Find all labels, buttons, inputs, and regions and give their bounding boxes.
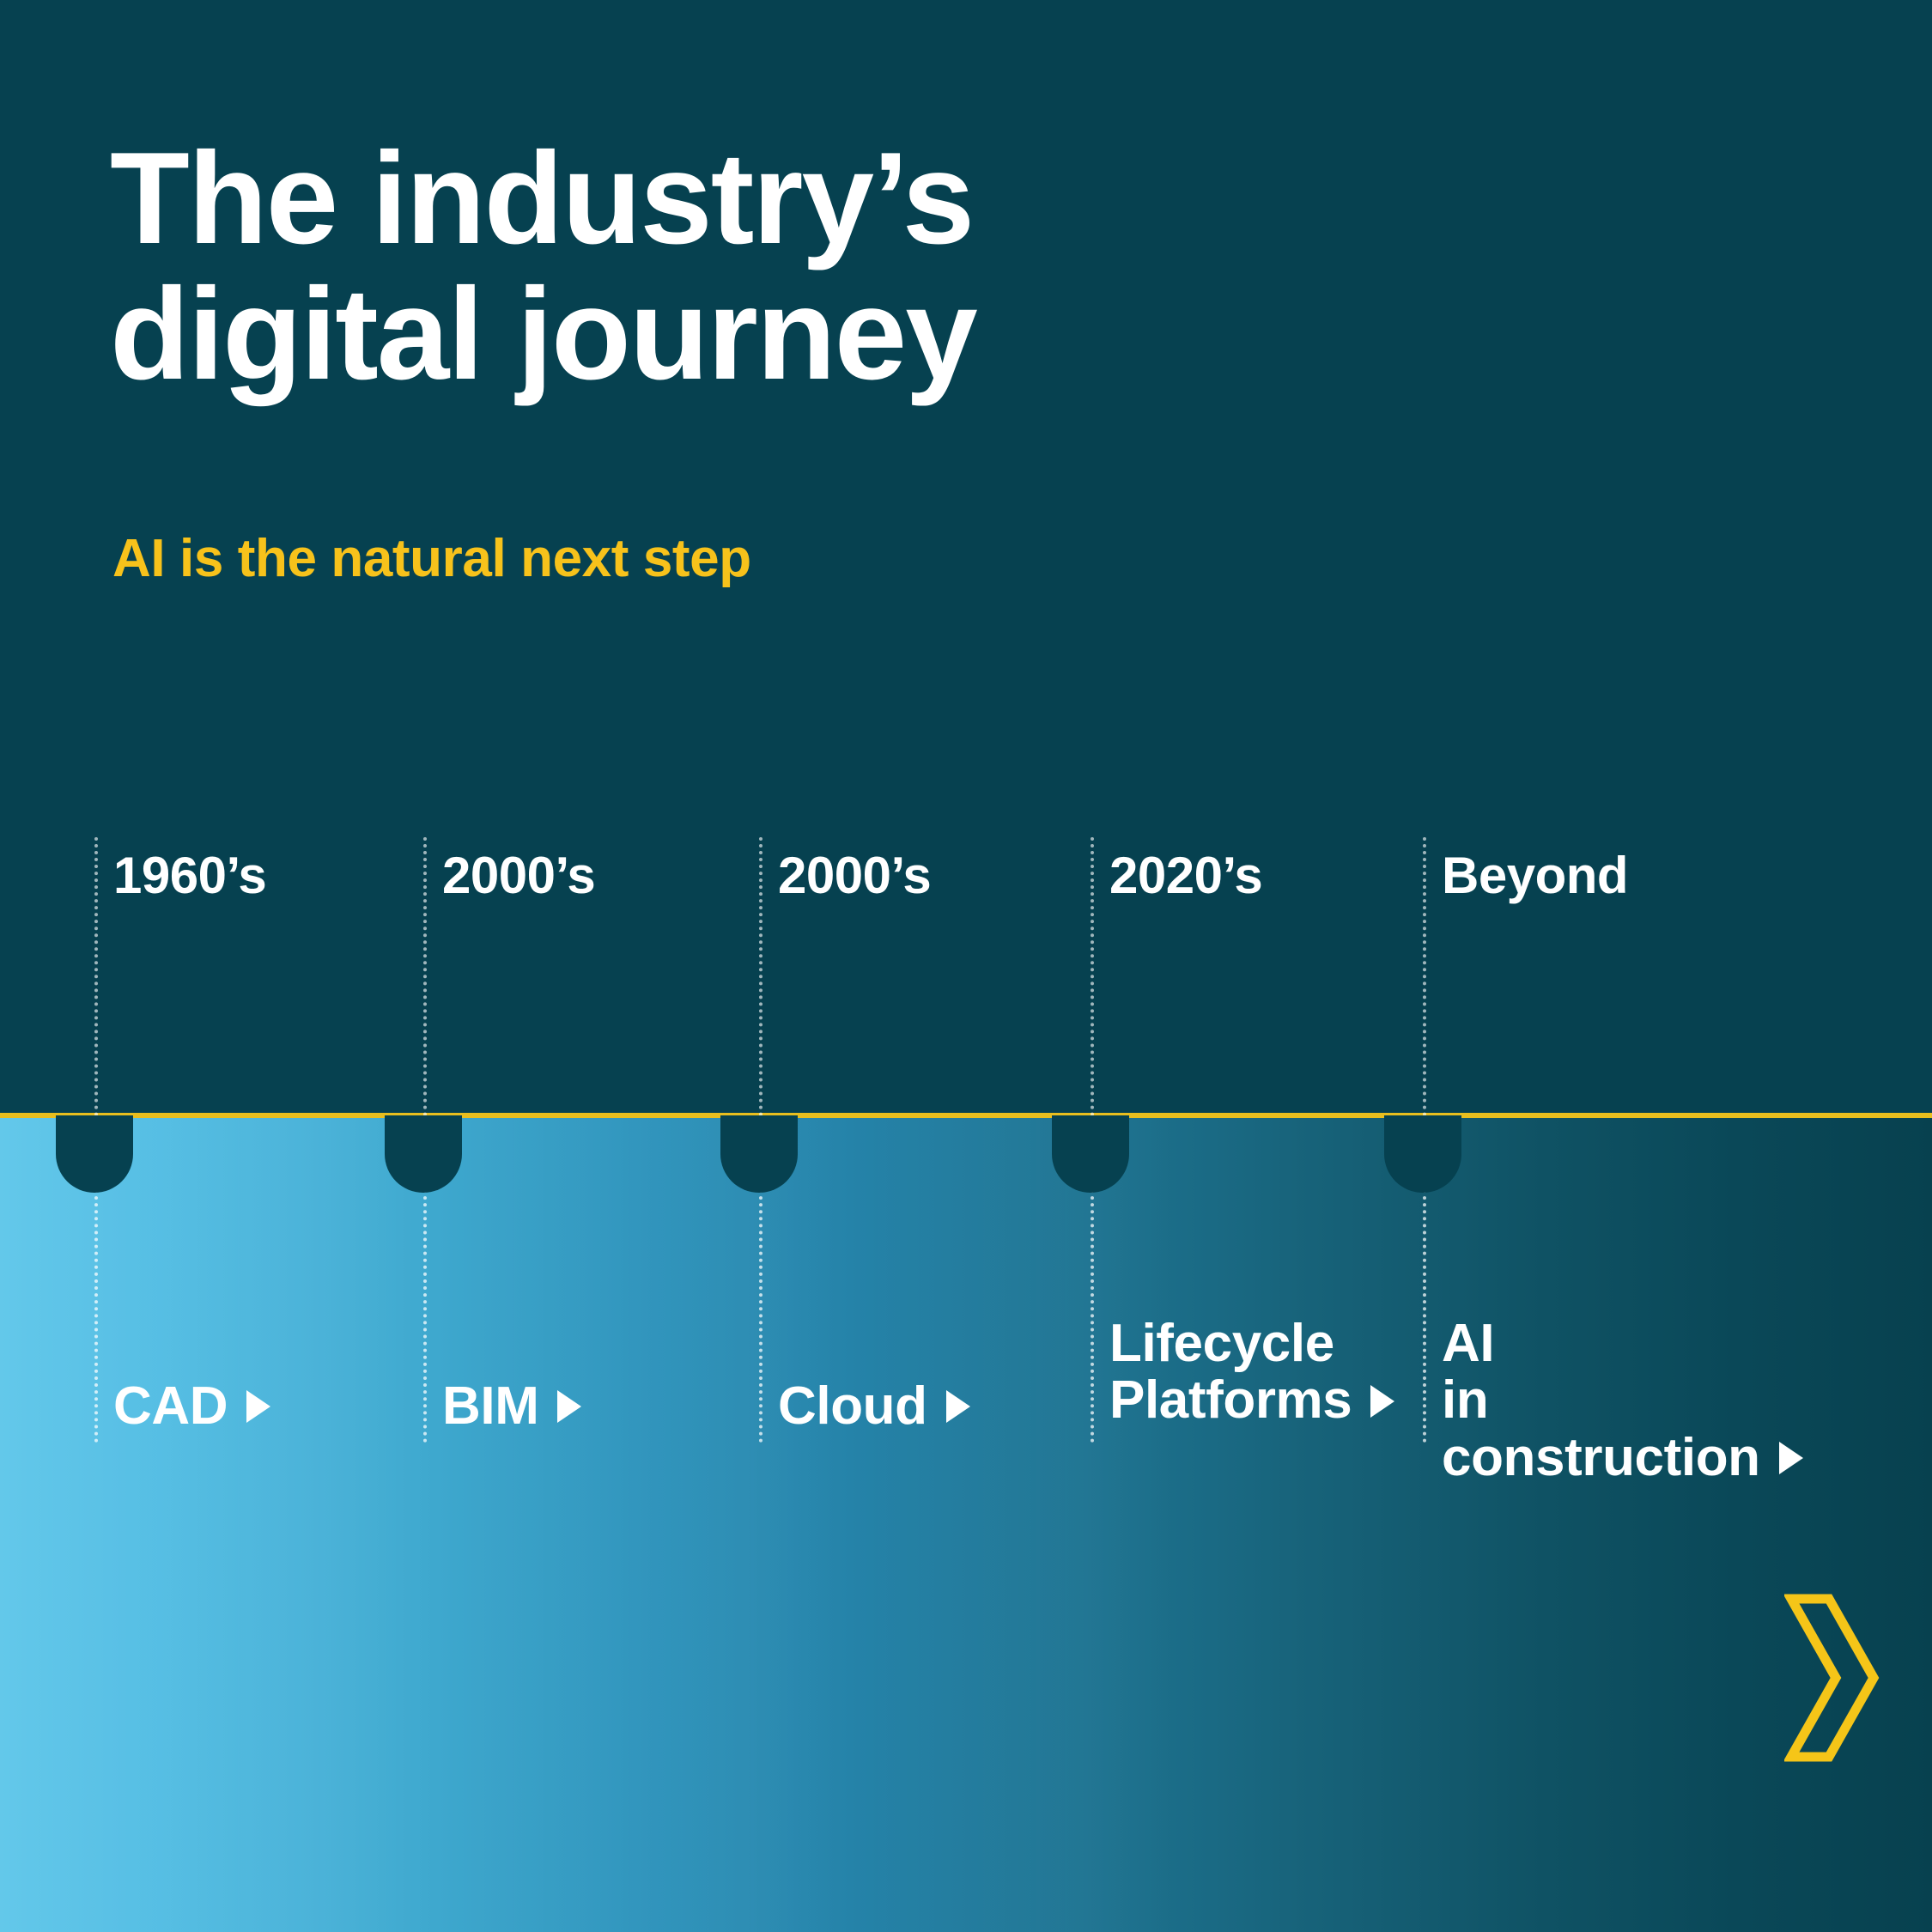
milestone-tech-label: AI in construction (1442, 1315, 1760, 1486)
timeline-node-dot (56, 1115, 133, 1193)
milestone-tech-link[interactable]: BIM (442, 1378, 581, 1435)
milestone-era-label: 1960’s (113, 846, 266, 905)
caret-right-icon (246, 1390, 270, 1423)
caret-right-icon (1370, 1385, 1394, 1418)
tick-line-lower (423, 1189, 427, 1443)
page-title: The industry’s digital journey (110, 131, 1398, 402)
milestone-tech-link[interactable]: CAD (113, 1378, 270, 1435)
tick-line-upper (759, 837, 762, 1116)
milestone-tech-label: BIM (442, 1378, 538, 1435)
tick-line-lower (1423, 1189, 1426, 1443)
timeline-axis (0, 1113, 1932, 1118)
timeline-node-dot (1384, 1115, 1461, 1193)
chevron-right-icon (1784, 1592, 1880, 1764)
milestone-tech-link[interactable]: Lifecycle Platforms (1109, 1315, 1394, 1430)
caret-right-icon (1779, 1442, 1803, 1474)
milestone-tech-label: CAD (113, 1378, 228, 1435)
milestone-tech-label: Lifecycle Platforms (1109, 1315, 1352, 1430)
timeline-node-dot (385, 1115, 462, 1193)
tick-line-upper (1091, 837, 1094, 1116)
page-subtitle: AI is the natural next step (112, 528, 751, 589)
timeline-node-dot (1052, 1115, 1129, 1193)
caret-right-icon (946, 1390, 970, 1423)
tick-line-upper (423, 837, 427, 1116)
tick-line-lower (1091, 1189, 1094, 1443)
milestone-era-label: 2020’s (1109, 846, 1262, 905)
tick-line-upper (94, 837, 98, 1116)
timeline-node-dot (720, 1115, 798, 1193)
milestone-tech-label: Cloud (778, 1378, 927, 1435)
caret-right-icon (557, 1390, 581, 1423)
milestone-tech-link[interactable]: Cloud (778, 1378, 970, 1435)
tick-line-lower (94, 1189, 98, 1443)
milestone-tech-link[interactable]: AI in construction (1442, 1315, 1803, 1486)
next-slide-button[interactable] (1784, 1592, 1880, 1764)
tick-line-upper (1423, 837, 1426, 1116)
tick-line-lower (759, 1189, 762, 1443)
milestone-era-label: 2000’s (778, 846, 931, 905)
slide-canvas: The industry’s digital journey AI is the… (0, 0, 1932, 1932)
milestone-era-label: Beyond (1442, 846, 1628, 905)
milestone-era-label: 2000’s (442, 846, 595, 905)
lower-gradient-panel (0, 1115, 1932, 1932)
